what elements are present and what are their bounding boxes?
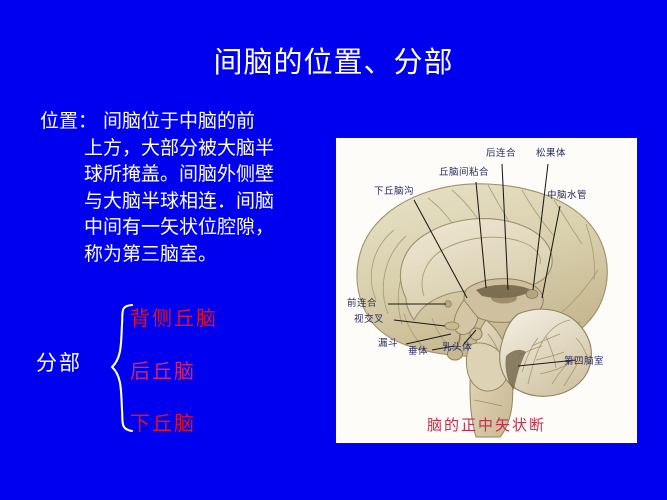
figure-label-xiaqiunaogou: 下丘脑沟 bbox=[374, 186, 414, 197]
brain-figure-panel: 后连合 松果体 丘脑间粘合 下丘脑沟 中脑水管 前连合 视交叉 漏斗 垂体 乳头… bbox=[336, 138, 637, 443]
subdivision-label: 分部 bbox=[36, 350, 82, 376]
subdivision-item-1[interactable]: 后丘脑 bbox=[130, 359, 196, 383]
subdivision-item-0[interactable]: 背侧丘脑 bbox=[130, 306, 218, 330]
subdivision-item-1-label: 后丘脑 bbox=[130, 359, 196, 383]
position-line-3: 与大脑半球相连．间脑 bbox=[40, 188, 318, 215]
subdivision-group: 分部 背侧丘脑 后丘脑 下丘脑 bbox=[28, 300, 258, 445]
figure-label-houlianhe: 后连合 bbox=[486, 148, 516, 159]
subdivision-item-0-label: 背侧丘脑 bbox=[130, 306, 218, 330]
position-line-5: 称为第三脑室。 bbox=[40, 241, 318, 268]
brain-midsagittal-illustration bbox=[336, 138, 637, 443]
subdivision-item-2-label: 下丘脑 bbox=[130, 411, 196, 435]
subdivision-item-2[interactable]: 下丘脑 bbox=[130, 411, 196, 435]
position-line-2: 球所掩盖。间脑外侧壁 bbox=[40, 161, 318, 188]
figure-label-qiunaojianniahe: 丘脑间粘合 bbox=[439, 167, 489, 178]
slide-canvas: 间脑的位置、分部 位置： 间脑位于中脑的前 上方，大部分被大脑半 球所掩盖。间脑… bbox=[0, 0, 667, 500]
figure-label-chuiti: 垂体 bbox=[408, 346, 428, 357]
position-line-4: 中间有一矢状位腔隙， bbox=[40, 214, 318, 241]
position-line-0: 位置： 间脑位于中脑的前 bbox=[40, 108, 318, 135]
figure-label-zhongnaoshuiguan: 中脑水管 bbox=[547, 190, 587, 201]
figure-label-songguoti: 松果体 bbox=[536, 148, 566, 159]
position-paragraph: 位置： 间脑位于中脑的前 上方，大部分被大脑半 球所掩盖。间脑外侧壁 与大脑半球… bbox=[40, 108, 318, 267]
position-line-1: 上方，大部分被大脑半 bbox=[40, 135, 318, 162]
figure-label-qianlianhe: 前连合 bbox=[347, 298, 377, 309]
figure-label-disinaoshi: 第四脑室 bbox=[564, 356, 604, 367]
figure-label-shijiaocha: 视交叉 bbox=[354, 314, 384, 325]
position-text-block: 位置： 间脑位于中脑的前 上方，大部分被大脑半 球所掩盖。间脑外侧壁 与大脑半球… bbox=[40, 108, 318, 267]
page-title: 间脑的位置、分部 bbox=[0, 44, 667, 80]
figure-label-rutouti: 乳头体 bbox=[442, 342, 472, 353]
figure-caption: 脑的正中矢状断 bbox=[336, 414, 637, 435]
figure-label-loudou: 漏斗 bbox=[378, 338, 398, 349]
